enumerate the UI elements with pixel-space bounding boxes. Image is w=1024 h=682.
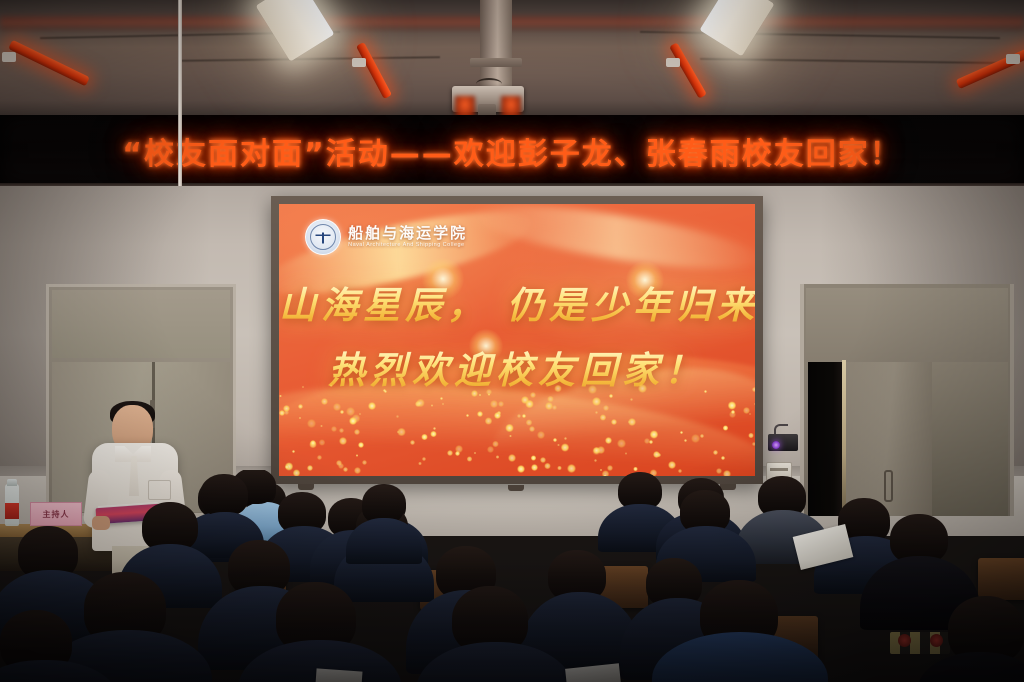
- patch-rose-icon: [930, 634, 943, 647]
- bokeh-dot: [668, 461, 676, 469]
- bokeh-dot: [653, 451, 660, 458]
- bokeh-dot: [354, 429, 360, 435]
- bokeh-dot: [498, 401, 504, 407]
- bokeh-dot: [298, 404, 303, 409]
- bokeh-dot: [356, 454, 359, 457]
- college-seal-icon: [305, 219, 341, 255]
- bokeh-dot: [292, 450, 295, 453]
- bokeh-dot: [339, 437, 347, 445]
- logo-name-en: Naval Architecture And Shipping College: [348, 243, 467, 249]
- bokeh-dot: [754, 403, 755, 406]
- bokeh-dot: [680, 431, 683, 434]
- right-door-transom: [806, 288, 1008, 360]
- screen-bokeh-particles: [279, 384, 755, 476]
- bokeh-dot: [349, 417, 357, 425]
- bokeh-dot: [421, 434, 427, 440]
- bokeh-dot: [723, 425, 729, 431]
- bokeh-dot: [477, 411, 483, 417]
- bokeh-dot: [307, 419, 316, 428]
- projection-screen-frame: 船舶与海运学院 Naval Architecture And Shipping …: [271, 196, 763, 484]
- bokeh-dot: [299, 417, 301, 419]
- bokeh-dot: [691, 434, 700, 443]
- bokeh-dot: [431, 404, 434, 407]
- handout-paper[interactable]: [315, 668, 362, 682]
- bokeh-dot: [442, 403, 444, 405]
- left-door-transom: [52, 290, 230, 358]
- bokeh-dot: [554, 385, 561, 392]
- bokeh-dot: [611, 419, 617, 425]
- bokeh-dot: [317, 455, 322, 460]
- bokeh-dot: [564, 437, 567, 440]
- bokeh-dot: [752, 387, 755, 391]
- sensor-led-icon: [772, 441, 780, 449]
- bokeh-dot: [471, 390, 478, 397]
- bokeh-dot: [630, 398, 633, 401]
- bokeh-dot: [595, 411, 598, 414]
- bokeh-dot: [455, 451, 459, 455]
- audience-area: AGNOSTICK: [0, 470, 1024, 682]
- bokeh-dot: [544, 463, 550, 469]
- bokeh-dot: [486, 389, 492, 395]
- logo-name-cn: 船舶与海运学院: [348, 225, 467, 241]
- bokeh-dot: [430, 431, 437, 438]
- bokeh-dot: [485, 417, 492, 424]
- bokeh-dot: [728, 401, 736, 409]
- bokeh-dot: [479, 394, 481, 396]
- bokeh-dot: [628, 421, 630, 423]
- bokeh-dot: [553, 438, 557, 442]
- tube-cap: [2, 52, 16, 62]
- bokeh-dot: [748, 433, 754, 439]
- bokeh-dot: [474, 452, 476, 454]
- bokeh-dot: [605, 437, 612, 444]
- bokeh-dot: [752, 442, 755, 446]
- bokeh-dot: [649, 440, 653, 444]
- bokeh-dot: [731, 410, 735, 414]
- bokeh-dot: [700, 434, 704, 438]
- tube-cap: [666, 58, 680, 67]
- bokeh-dot: [529, 426, 535, 432]
- bokeh-dot: [466, 414, 469, 417]
- screen-headline-line1: 山海星辰， 仍是少年归来。: [279, 275, 755, 329]
- bokeh-dot: [418, 462, 422, 466]
- tube-cap: [352, 58, 366, 67]
- led-banner: “校友面对面”活动——欢迎彭子龙、张春雨校友回家！: [0, 115, 1024, 187]
- bokeh-dot: [522, 414, 526, 418]
- bokeh-dot: [416, 399, 425, 408]
- ceiling-rail: [700, 58, 1000, 64]
- bokeh-dot: [530, 392, 536, 398]
- bokeh-dot: [594, 459, 597, 462]
- person-shoulders: [916, 652, 1024, 682]
- bokeh-dot: [487, 446, 494, 453]
- led-banner-text: “校友面对面”活动——欢迎彭子龙、张春雨校友回家！: [0, 115, 1024, 187]
- ceiling-beam-glow: [0, 16, 1024, 30]
- bokeh-dot: [397, 431, 399, 433]
- bokeh-dot: [302, 386, 304, 388]
- bokeh-dot: [508, 454, 517, 463]
- bokeh-dot: [650, 430, 659, 439]
- bokeh-dot: [358, 442, 364, 448]
- bokeh-dot: [592, 397, 601, 406]
- chair[interactable]: [978, 558, 1024, 600]
- bokeh-dot: [547, 396, 554, 403]
- bokeh-dot: [279, 395, 281, 397]
- bokeh-dot: [537, 431, 545, 439]
- lecture-hall-scene: “校友面对面”活动——欢迎彭子龙、张春雨校友回家！: [0, 0, 1024, 682]
- bokeh-dot: [525, 400, 534, 409]
- bokeh-dot: [496, 455, 500, 459]
- ceiling-rail: [640, 31, 1000, 39]
- bokeh-dot: [494, 412, 501, 419]
- bokeh-dot: [467, 456, 472, 461]
- bokeh-dot: [331, 426, 337, 432]
- bokeh-dot: [368, 402, 376, 410]
- bokeh-dot: [517, 414, 522, 419]
- bokeh-dot: [561, 443, 569, 451]
- bokeh-dot: [704, 390, 707, 393]
- bokeh-dot: [410, 440, 414, 444]
- bokeh-dot: [422, 457, 427, 462]
- bokeh-dot: [330, 384, 333, 387]
- bokeh-dot: [609, 394, 613, 398]
- bokeh-dot: [359, 413, 361, 415]
- bokeh-dot: [320, 425, 323, 428]
- college-logo: 船舶与海运学院 Naval Architecture And Shipping …: [305, 219, 467, 255]
- bokeh-dot: [433, 427, 436, 430]
- bokeh-dot: [617, 439, 626, 448]
- bokeh-dot: [321, 398, 328, 405]
- person-head: [200, 474, 248, 516]
- bokeh-dot: [396, 415, 399, 418]
- bokeh-dot: [505, 424, 513, 432]
- bokeh-dot: [684, 439, 687, 442]
- bokeh-dot: [447, 450, 453, 456]
- duct-band: [470, 58, 522, 67]
- bokeh-dot: [526, 419, 532, 425]
- tube-cap: [1006, 54, 1020, 64]
- bokeh-dot: [283, 405, 290, 412]
- ceiling-rail: [180, 56, 440, 62]
- bokeh-dot: [490, 400, 498, 408]
- bokeh-dot: [509, 435, 511, 437]
- bokeh-dot: [638, 384, 647, 393]
- bokeh-dot: [492, 441, 499, 448]
- bokeh-dot: [557, 444, 560, 447]
- projection-screen: 船舶与海运学院 Naval Architecture And Shipping …: [279, 204, 755, 476]
- patch-rose-icon: [898, 634, 911, 647]
- bokeh-dot: [600, 414, 606, 420]
- bokeh-dot: [384, 390, 387, 393]
- bokeh-dot: [362, 460, 367, 465]
- bokeh-dot: [319, 439, 326, 446]
- bokeh-dot: [625, 452, 628, 455]
- bokeh-dot: [588, 385, 597, 394]
- bokeh-dot: [531, 455, 537, 461]
- bokeh-dot: [339, 428, 344, 433]
- bokeh-dot: [552, 405, 557, 410]
- bokeh-dot: [603, 405, 609, 411]
- bokeh-dot: [440, 397, 442, 399]
- bokeh-dot: [721, 456, 725, 460]
- bokeh-dot: [749, 413, 751, 415]
- bokeh-dot: [340, 410, 344, 414]
- bokeh-dot: [713, 450, 717, 454]
